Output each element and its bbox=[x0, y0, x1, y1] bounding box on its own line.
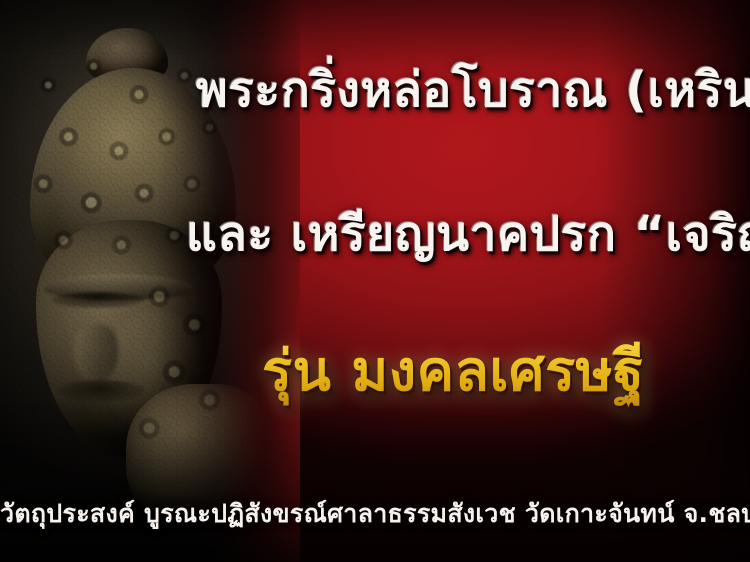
headline-line-3: รุ่น มงคลเศรษฐี bbox=[262, 326, 644, 415]
amulet-promo-poster: พระกริ่งหล่อโบราณ (เหรินไทย) และ เหรียญน… bbox=[0, 0, 750, 562]
headline-line-1: พระกริ่งหล่อโบราณ (เหรินไทย) bbox=[196, 52, 750, 128]
headline-line-2: และ เหรียญนาคปรก “เจริญพร” bbox=[186, 196, 750, 272]
purpose-caption: วัตถุประสงค์ บูรณะปฏิสังขรณ์ศาลาธรรมสังเ… bbox=[0, 494, 750, 534]
